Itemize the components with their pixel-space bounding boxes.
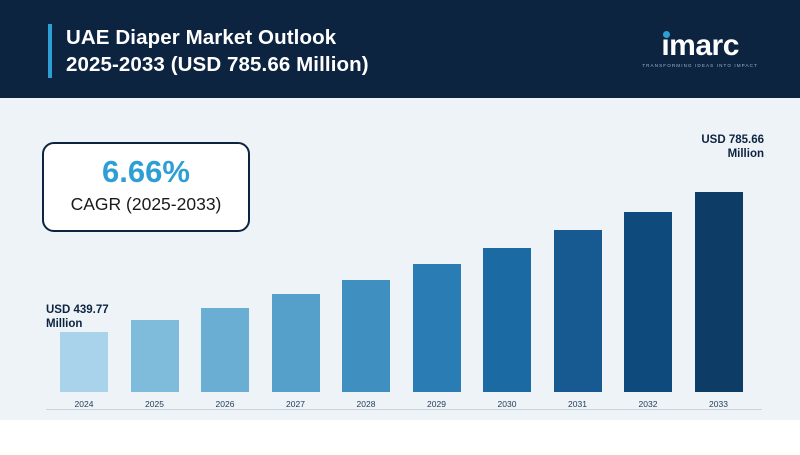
bar-column: 2025 xyxy=(131,320,179,409)
last-value-line-1: USD 785.66 xyxy=(701,133,764,147)
bar-category-label: 2033 xyxy=(695,399,743,409)
logo-tagline: TRANSFORMING IDEAS INTO IMPACT xyxy=(642,63,758,68)
bar-category-label: 2027 xyxy=(272,399,320,409)
bar xyxy=(695,192,743,392)
bar-category-label: 2024 xyxy=(60,399,108,409)
bar-category-label: 2029 xyxy=(413,399,461,409)
bar-column: 2029 xyxy=(413,264,461,409)
bar xyxy=(60,332,108,392)
title-line-1: UAE Diaper Market Outlook xyxy=(66,24,369,51)
page-title: UAE Diaper Market Outlook 2025-2033 (USD… xyxy=(48,24,369,78)
bar-column: 2033 xyxy=(695,192,743,409)
bar-category-label: 2025 xyxy=(131,399,179,409)
bar xyxy=(483,248,531,392)
bar-category-label: 2030 xyxy=(483,399,531,409)
logo-text: imarc xyxy=(661,29,739,62)
bar-column: 2024 xyxy=(60,332,108,409)
bar-category-label: 2028 xyxy=(342,399,390,409)
logo-wordmark: imarc xyxy=(661,30,739,62)
last-value-callout: USD 785.66 Million xyxy=(701,133,764,161)
bar-column: 2026 xyxy=(201,308,249,409)
bar-column: 2031 xyxy=(554,230,602,409)
bar xyxy=(342,280,390,392)
bar xyxy=(131,320,179,392)
bar-column: 2028 xyxy=(342,280,390,409)
cagr-box: 6.66% CAGR (2025-2033) xyxy=(42,142,250,232)
imarc-logo: imarc TRANSFORMING IDEAS INTO IMPACT xyxy=(642,30,758,68)
bar xyxy=(554,230,602,392)
chart-baseline xyxy=(46,409,762,410)
bar-category-label: 2031 xyxy=(554,399,602,409)
first-value-callout: USD 439.77 Million xyxy=(46,303,109,331)
title-line-2: 2025-2033 (USD 785.66 Million) xyxy=(66,51,369,78)
bar-column: 2032 xyxy=(624,212,672,409)
bar xyxy=(624,212,672,392)
cagr-value: 6.66% xyxy=(44,155,248,189)
bar-category-label: 2032 xyxy=(624,399,672,409)
bar-category-label: 2026 xyxy=(201,399,249,409)
last-value-line-2: Million xyxy=(701,147,764,161)
bar xyxy=(201,308,249,392)
first-value-line-1: USD 439.77 xyxy=(46,303,109,317)
bar xyxy=(413,264,461,392)
bar xyxy=(272,294,320,392)
header-bar: UAE Diaper Market Outlook 2025-2033 (USD… xyxy=(0,0,800,98)
bar-column: 2027 xyxy=(272,294,320,409)
footer-strip xyxy=(0,420,800,455)
chart-page: UAE Diaper Market Outlook 2025-2033 (USD… xyxy=(0,0,800,455)
cagr-label: CAGR (2025-2033) xyxy=(44,193,248,215)
bar-column: 2030 xyxy=(483,248,531,409)
first-value-line-2: Million xyxy=(46,317,109,331)
